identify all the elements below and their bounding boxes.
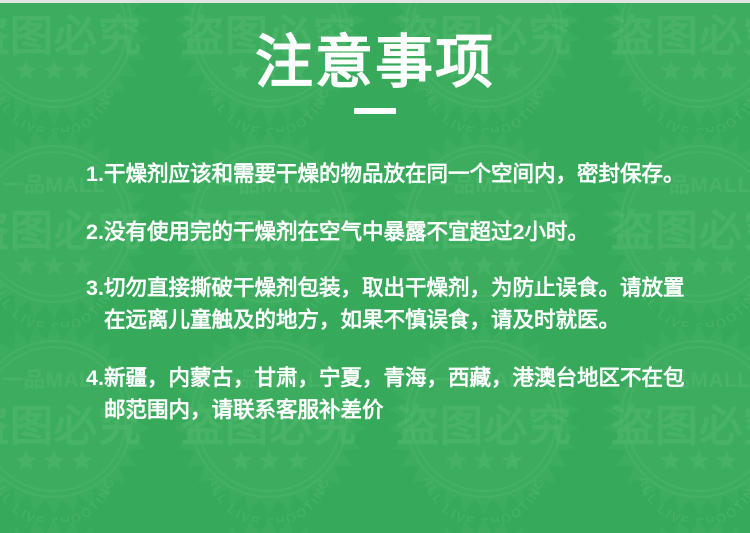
notice-list: 1. 干燥剂应该和需要干燥的物品放在同一个空间内，密封保存。 2. 没有使用完的…	[86, 158, 686, 426]
notice-index-2: 2.	[86, 216, 104, 248]
notice-text-3: 切勿直接撕破干燥剂包装，取出干燥剂，为防止误食。请放置在远离儿童触及的地方，如果…	[104, 272, 686, 336]
top-edge-strip	[0, 0, 750, 3]
notice-text-1: 干燥剂应该和需要干燥的物品放在同一个空间内，密封保存。	[104, 158, 686, 190]
notice-text-4: 新疆，内蒙古，甘肃，宁夏，青海，西藏，港澳台地区不在包邮范围内，请联系客服补差价	[104, 362, 686, 426]
notice-item-2: 2. 没有使用完的干燥剂在空气中暴露不宜超过2小时。	[86, 216, 686, 248]
title-block: 注意事项	[0, 33, 750, 114]
notice-index-4: 4.	[86, 362, 104, 394]
notice-index-3: 3.	[86, 272, 104, 304]
notice-item-3: 3. 切勿直接撕破干燥剂包装，取出干燥剂，为防止误食。请放置在远离儿童触及的地方…	[86, 272, 686, 336]
page-title: 注意事项	[0, 33, 750, 94]
notice-banner: 一品MALL 盗图必究 ALL LIVE SHOOTING 一品MALL 盗图必…	[0, 0, 750, 533]
banner-content: 注意事项 1. 干燥剂应该和需要干燥的物品放在同一个空间内，密封保存。 2. 没…	[0, 0, 750, 533]
notice-item-4: 4. 新疆，内蒙古，甘肃，宁夏，青海，西藏，港澳台地区不在包邮范围内，请联系客服…	[86, 362, 686, 426]
notice-index-1: 1.	[86, 158, 104, 190]
notice-item-1: 1. 干燥剂应该和需要干燥的物品放在同一个空间内，密封保存。	[86, 158, 686, 190]
title-underline-dash	[354, 108, 396, 114]
notice-text-2: 没有使用完的干燥剂在空气中暴露不宜超过2小时。	[104, 216, 686, 248]
